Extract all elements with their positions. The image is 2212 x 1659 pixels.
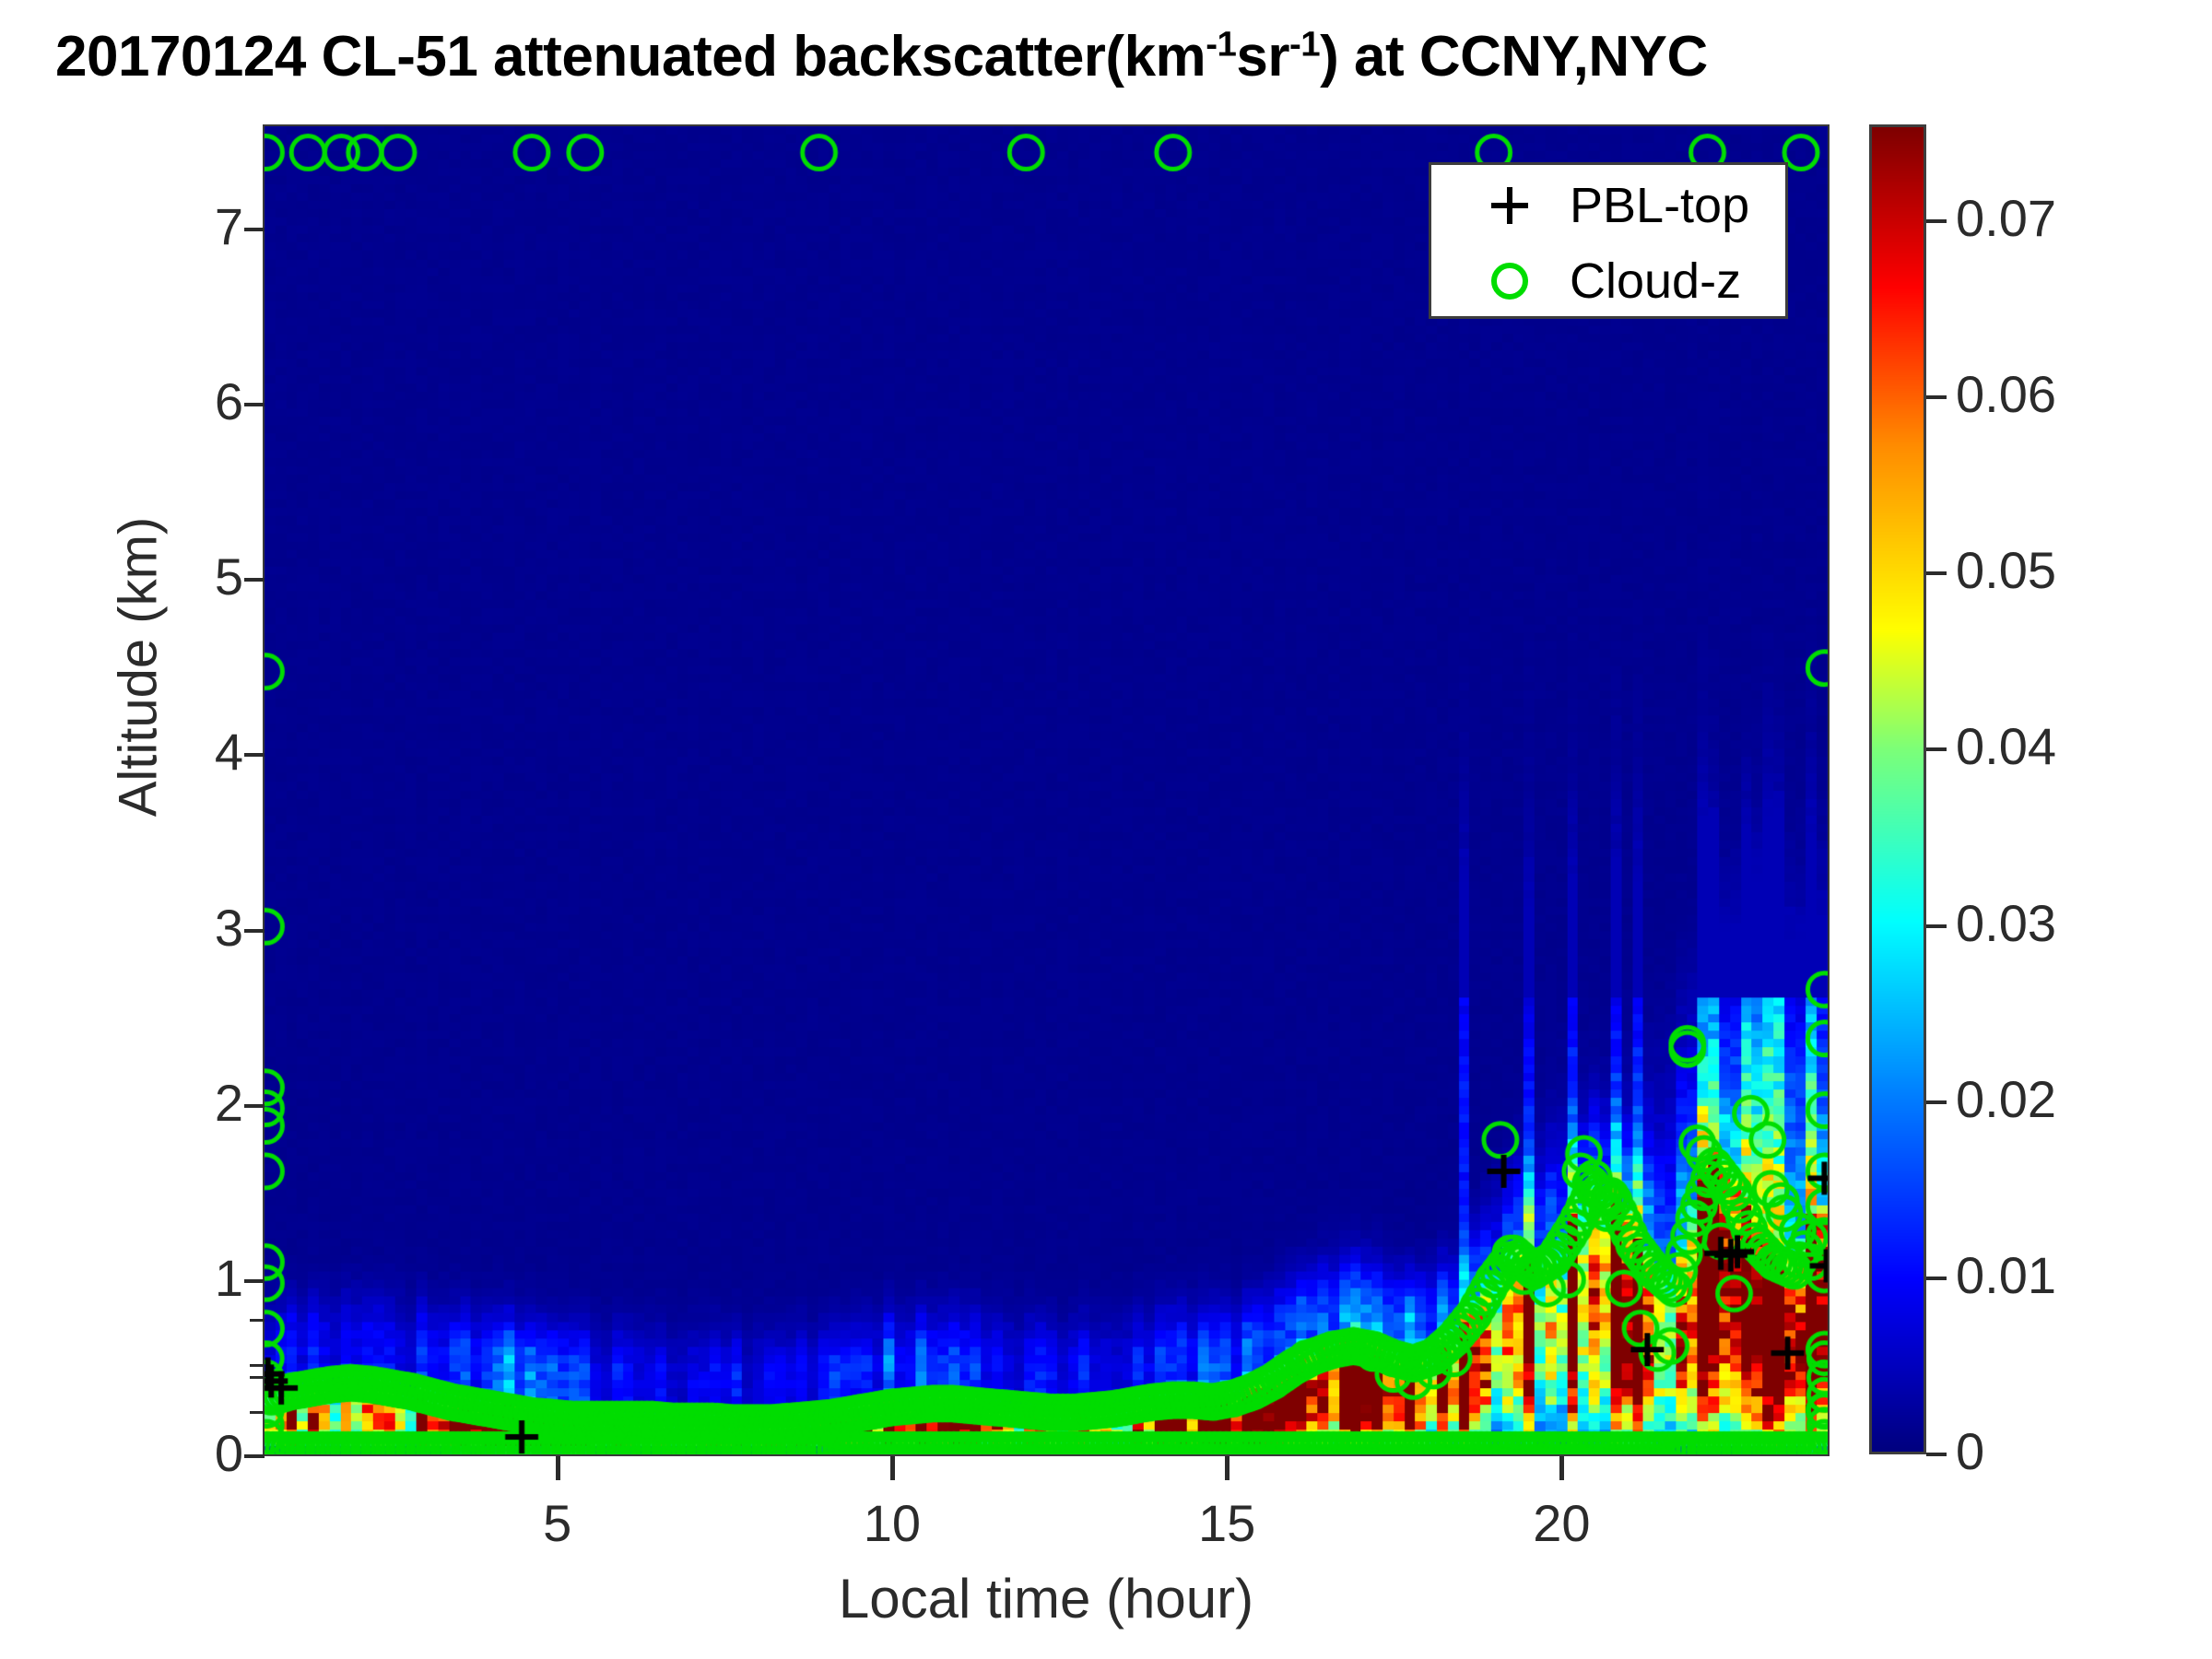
y-tick-label-1: 1 [133,1248,243,1308]
colorbar-tick-1 [1926,1277,1947,1280]
colorbar-tick-7 [1926,219,1947,223]
x-tick-label-20: 20 [1488,1493,1635,1553]
colorbar-tick-label-3: 0.03 [1956,893,2056,953]
figure-root: 20170124 CL-51 attenuated backscatter(km… [0,0,2212,1659]
colorbar-tick-label-0: 0 [1956,1421,1984,1481]
plus-marker-icon [1468,171,1551,241]
y-axis-label: Altitude (km) [108,345,170,990]
colorbar-tick-label-1: 0.01 [1956,1245,2056,1305]
y-tick-3 [244,929,265,933]
colorbar-tick-4 [1926,747,1947,751]
plot-area [263,124,1830,1456]
y-tick-label-3: 3 [133,898,243,958]
x-tick-15 [1225,1456,1230,1480]
y-tick-label-2: 2 [133,1073,243,1133]
y-tick-label-6: 6 [133,371,243,431]
y-minor-tick [250,1376,265,1379]
y-minor-tick [250,1411,265,1414]
legend-label-pbl-top: PBL-top [1570,171,1749,241]
colorbar-tick-label-4: 0.04 [1956,716,2056,776]
y-tick-label-5: 5 [133,547,243,606]
x-tick-5 [556,1456,560,1480]
y-tick-4 [244,753,265,757]
y-tick-0 [244,1454,265,1458]
colorbar-tick-6 [1926,395,1947,399]
title-main: 20170124 CL-51 attenuated backscatter(km [55,25,1206,88]
title-superscript-2: -1 [1289,24,1320,64]
y-tick-7 [244,228,265,231]
colorbar-tick-2 [1926,1100,1947,1104]
x-tick-label-5: 5 [484,1493,631,1553]
y-tick-1 [244,1279,265,1283]
x-tick-label-10: 10 [818,1493,966,1553]
y-minor-tick [250,1364,265,1367]
y-tick-5 [244,578,265,582]
chart-title: 20170124 CL-51 attenuated backscatter(km… [55,24,2175,89]
x-tick-10 [890,1456,895,1480]
marker-overlay [265,126,1828,1454]
colorbar-tick-label-7: 0.07 [1956,188,2056,248]
x-tick-20 [1559,1456,1564,1480]
colorbar-gradient [1872,127,1924,1452]
x-axis-label: Local time (hour) [263,1567,1830,1630]
title-mid: sr [1236,25,1289,88]
legend-entry-cloud-z: Cloud-z [1431,246,1785,316]
y-minor-tick [250,1319,265,1322]
y-tick-6 [244,403,265,406]
y-tick-label-4: 4 [133,722,243,782]
title-superscript-1: -1 [1206,24,1236,64]
colorbar-tick-label-5: 0.05 [1956,540,2056,600]
colorbar-tick-label-2: 0.02 [1956,1069,2056,1129]
colorbar-tick-3 [1926,924,1947,928]
colorbar-tick-label-6: 0.06 [1956,364,2056,424]
y-tick-label-0: 0 [133,1423,243,1483]
title-tail: ) at CCNY,NYC [1320,25,1708,88]
colorbar-tick-0 [1926,1453,1947,1456]
legend-label-cloud-z: Cloud-z [1570,246,1741,316]
circle-marker-icon [1468,246,1551,316]
colorbar [1869,124,1926,1454]
colorbar-tick-5 [1926,571,1947,575]
y-tick-label-7: 7 [133,196,243,256]
x-tick-label-15: 15 [1153,1493,1300,1553]
legend-entry-pbl-top: PBL-top [1431,171,1785,241]
legend-box: PBL-top Cloud-z [1429,162,1788,319]
y-tick-2 [244,1104,265,1108]
